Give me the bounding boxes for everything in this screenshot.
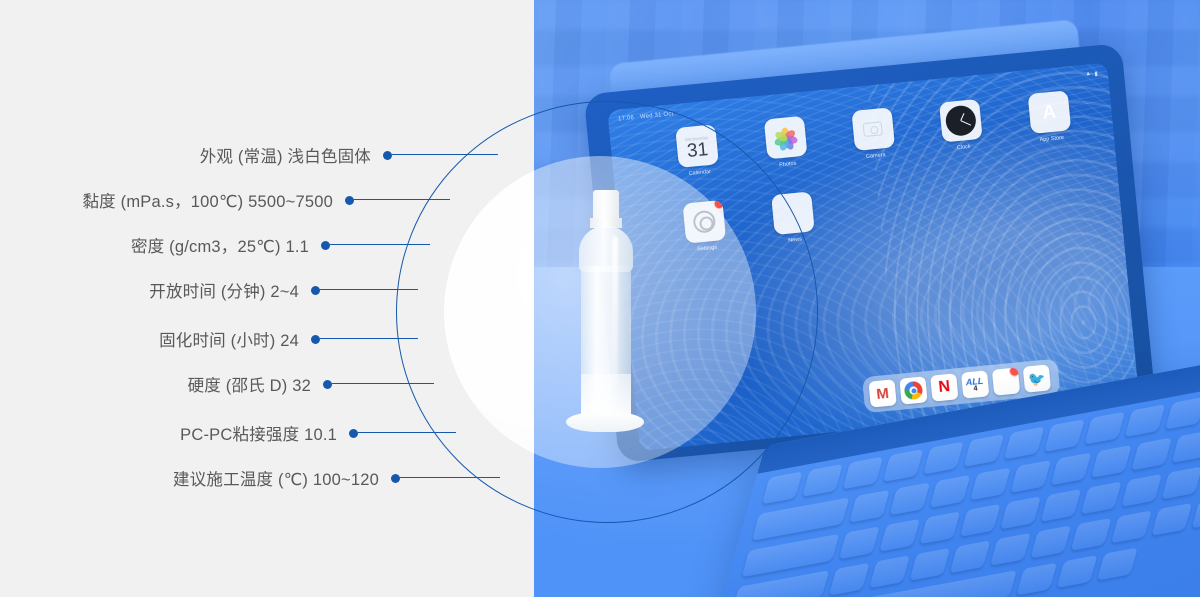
- spec-label: 开放时间 (分钟) 2~4: [149, 278, 299, 302]
- spec-label: 硬度 (邵氏 D) 32: [188, 372, 311, 396]
- spec-bullet-dot: [349, 429, 358, 438]
- spec-row-hardness: 硬度 (邵氏 D) 32: [0, 372, 332, 396]
- spec-bullet-dot: [311, 335, 320, 344]
- spec-bullet-dot: [345, 196, 354, 205]
- spec-row-viscosity: 黏度 (mPa.s，100℃) 5500~7500: [0, 188, 354, 212]
- infographic-stage: 17:06 Wed 31 Oct ▲ ▮ Wednesday 31: [0, 0, 1200, 597]
- spec-label: 建议施工温度 (℃) 100~120: [173, 466, 379, 490]
- spec-callout-list: 外观 (常温) 浅白色固体 黏度 (mPa.s，100℃) 5500~7500 …: [0, 0, 534, 597]
- product-bottle: [566, 190, 644, 452]
- spec-bullet-dot: [311, 286, 320, 295]
- spec-label: 外观 (常温) 浅白色固体: [200, 143, 371, 167]
- spec-bullet-dot: [391, 474, 400, 483]
- spec-row-recommended-temperature: 建议施工温度 (℃) 100~120: [0, 466, 400, 490]
- spec-row-appearance-room-temp: 外观 (常温) 浅白色固体: [0, 143, 392, 167]
- spec-row-density: 密度 (g/cm3，25℃) 1.1: [0, 233, 330, 257]
- bottle-cap: [593, 190, 619, 220]
- spec-bullet-dot: [323, 380, 332, 389]
- spec-row-cure-time: 固化时间 (小时) 24: [0, 327, 320, 351]
- spec-label: 密度 (g/cm3，25℃) 1.1: [131, 233, 309, 257]
- spec-bullet-dot: [321, 241, 330, 250]
- spec-row-pc-pc-bond-strength: PC-PC粘接强度 10.1: [0, 421, 358, 445]
- bottle-base-flange: [566, 412, 644, 432]
- spec-label: 固化时间 (小时) 24: [159, 327, 299, 351]
- spec-label: PC-PC粘接强度 10.1: [180, 421, 337, 445]
- spec-row-open-time: 开放时间 (分钟) 2~4: [0, 278, 320, 302]
- spec-bullet-dot: [383, 151, 392, 160]
- bottle-highlight: [612, 236, 618, 386]
- spec-label: 黏度 (mPa.s，100℃) 5500~7500: [82, 188, 333, 212]
